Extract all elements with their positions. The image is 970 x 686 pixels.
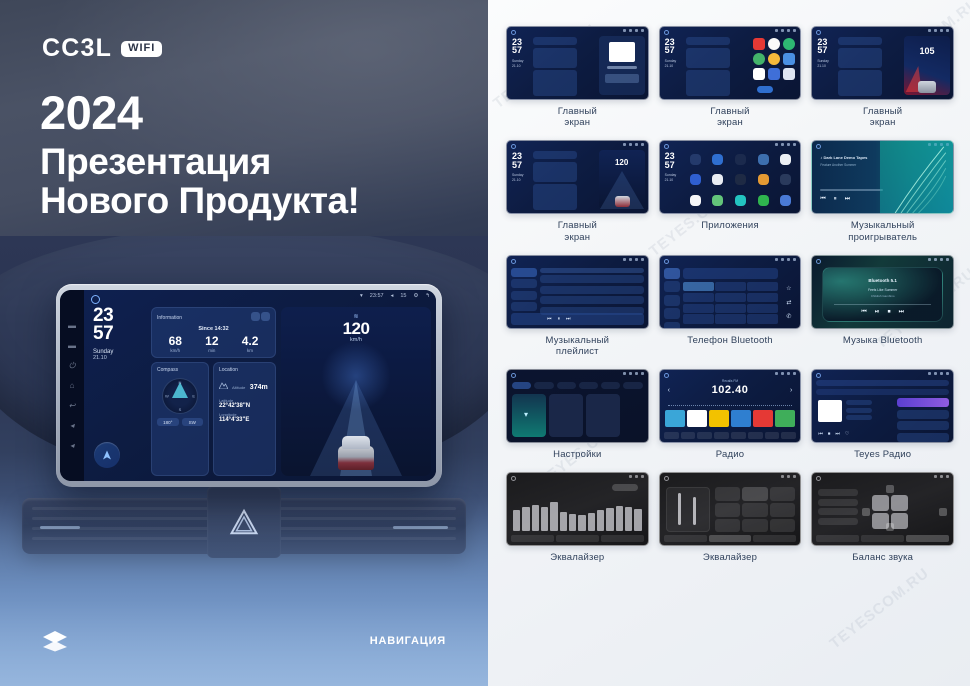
compass-south: S bbox=[179, 407, 182, 412]
call-icon[interactable]: ✆ bbox=[786, 313, 791, 320]
back-icon[interactable]: ↰ bbox=[425, 293, 430, 299]
page-title: 2024 Презентация Нового Продукта! bbox=[40, 88, 359, 220]
speed-unit: km/h bbox=[281, 337, 431, 343]
caption-line-1: Главный bbox=[558, 106, 597, 117]
caption-line-1: Эквалайзер bbox=[703, 552, 757, 563]
screen-home-icon[interactable] bbox=[91, 295, 100, 304]
next-icon[interactable]: ⏭ bbox=[899, 309, 904, 316]
gallery-item[interactable]: Эквалайзер bbox=[659, 472, 802, 573]
back-icon[interactable]: ↩ bbox=[68, 401, 77, 410]
road-visualization bbox=[281, 358, 431, 476]
logo-wifi-badge: WIFI bbox=[121, 41, 162, 57]
thumb-speed-value: 120 bbox=[599, 158, 645, 167]
stat-speed: 68 km/h bbox=[169, 335, 182, 353]
clock-date: 21.10 bbox=[90, 355, 146, 361]
gallery-item[interactable]: ♪ Dark Lane Demo Tapes Feature Another S… bbox=[811, 140, 954, 252]
wifi-icon: ▾ bbox=[360, 293, 363, 299]
wifi-icon: ▾ bbox=[524, 410, 528, 419]
gallery-item[interactable]: Эквалайзер bbox=[506, 472, 649, 573]
car-model-icon bbox=[338, 436, 374, 470]
longitude-value: 114°4'33"E bbox=[219, 417, 270, 423]
gallery-item[interactable]: 2357Sunday21.10 Главныйэкран bbox=[506, 26, 649, 138]
information-stats: 68 km/h 12 min 4.2 km bbox=[157, 335, 270, 353]
prev-station-icon[interactable]: ‹ bbox=[668, 387, 670, 394]
location-widget[interactable]: Location Altitude 374m bbox=[213, 362, 276, 476]
navigation-arrow-icon bbox=[101, 449, 113, 461]
thumbnail-equalizer-bands[interactable] bbox=[506, 472, 649, 546]
thumbnail-equalizer-simple[interactable] bbox=[659, 472, 802, 546]
altitude-label: Altitude bbox=[232, 385, 245, 390]
stat-speed-value: 68 bbox=[169, 335, 182, 347]
compass-east: E bbox=[192, 394, 195, 399]
caption-line-1: Музыкальный bbox=[545, 335, 609, 346]
gallery-row: 2357Sunday21.10 120 Главныйэкран bbox=[506, 140, 954, 252]
navigation-launch-button[interactable] bbox=[94, 442, 120, 468]
stat-time: 12 min bbox=[205, 335, 218, 353]
screenshot-gallery: TEYES.COM.RU TEYESCOM.RU TEYES.COM.RU TE… bbox=[488, 0, 970, 686]
prev-icon[interactable]: ⏮ bbox=[820, 196, 825, 203]
volume-level: 15 bbox=[400, 293, 406, 299]
gear-icon[interactable]: ⚙ bbox=[413, 293, 418, 299]
compass-direction: SW bbox=[182, 418, 204, 426]
pause-icon[interactable]: ⏸ bbox=[834, 196, 837, 203]
volume-up-icon[interactable]: ▬ bbox=[68, 321, 77, 330]
caption-line-1: Баланс звука bbox=[852, 552, 913, 563]
caption-line-2: экран bbox=[870, 117, 896, 128]
thumbnail-teyes-radio[interactable]: ⏮ ⏹ ⏭ ♡ bbox=[811, 369, 954, 443]
info-settings-icon[interactable] bbox=[251, 312, 260, 321]
caption-line-2: проигрыватель bbox=[848, 232, 917, 243]
gallery-row: ▾ Настройки Recalls FM 102.40 ‹ › bbox=[506, 369, 954, 470]
stop-icon[interactable]: ⏹ bbox=[828, 431, 831, 437]
presentation-slide: CC3L WIFI 2024 Презентация Нового Продук… bbox=[0, 0, 970, 686]
gallery-item[interactable]: ⏮ ⏸ ⏭ Музыкальныйплейлист bbox=[506, 255, 649, 367]
gallery-item[interactable]: ▾ Настройки bbox=[506, 369, 649, 470]
next-station-icon[interactable]: › bbox=[790, 387, 792, 394]
navigation-label: НАВИГАЦИЯ bbox=[370, 635, 446, 647]
thumbnail-home-speed[interactable]: 2357Sunday21.10 105 bbox=[811, 26, 954, 100]
device-side-buttons[interactable]: ▬ ▬ ⏻ ⌂ ↩ ◂ ◂ bbox=[60, 290, 84, 481]
title-line-1: Презентация bbox=[40, 142, 359, 181]
status-time: 23:57 bbox=[370, 293, 384, 299]
thumbnail-music-player[interactable]: ♪ Dark Lane Demo Tapes Feature Another S… bbox=[811, 140, 954, 214]
compass-widget[interactable]: Compass N S E W bbox=[151, 362, 209, 476]
thumbnail-playlist[interactable]: ⏮ ⏸ ⏭ bbox=[506, 255, 649, 329]
star-icon[interactable]: ☆ bbox=[786, 285, 791, 292]
head-unit-screen[interactable]: ▾ 23:57 ◂ 15 ⚙ ↰ 23 57 bbox=[84, 290, 436, 481]
mountain-icon bbox=[219, 382, 228, 389]
compass-dial: N S E W bbox=[162, 378, 198, 414]
gallery-item[interactable]: 2357Sunday21.10 bbox=[659, 26, 802, 138]
bluetooth-version-label: Bluetooth 5.1 bbox=[812, 278, 953, 283]
hero-panel: CC3L WIFI 2024 Презентация Нового Продук… bbox=[0, 0, 488, 686]
mic-icon[interactable]: ◂ bbox=[68, 441, 77, 450]
gallery-item[interactable]: Bluetooth 5.1 Feels Like Summer Childish… bbox=[811, 255, 954, 367]
play-pause-icon[interactable]: ⏯ bbox=[875, 309, 880, 316]
pause-icon[interactable]: ⏸ bbox=[558, 316, 561, 322]
title-line-2: Нового Продукта! bbox=[40, 181, 359, 220]
caption-line-1: Радио bbox=[716, 449, 744, 460]
altitude-value: 374m bbox=[250, 384, 268, 391]
caption-line-1: Настройки bbox=[553, 449, 601, 460]
stat-distance-unit: km bbox=[242, 348, 259, 353]
gallery-row: 2357Sunday21.10 Главныйэкран bbox=[506, 26, 954, 138]
compass-bearing: 180° bbox=[157, 418, 179, 426]
compass-west: W bbox=[165, 394, 169, 399]
caption-line-1: Главный bbox=[710, 106, 749, 117]
latitude-value: 22°42'38"N bbox=[219, 403, 270, 409]
information-since: Since 14:32 bbox=[157, 326, 270, 332]
location-title: Location bbox=[219, 367, 238, 373]
contacts-icon[interactable]: ⇄ bbox=[786, 299, 791, 306]
caption-line-2: плейлист bbox=[556, 346, 599, 357]
prev-icon[interactable]: ⏮ bbox=[818, 431, 823, 437]
gallery-item[interactable]: 2357Sunday21.10 120 Главныйэкран bbox=[506, 140, 649, 252]
gallery-row: Эквалайзер bbox=[506, 472, 954, 573]
caption-line-1: Teyes Радио bbox=[854, 449, 911, 460]
hero-footer: НАВИГАЦИЯ bbox=[0, 630, 488, 652]
information-widget[interactable]: Information Since 14:32 68 km/h bbox=[151, 307, 276, 358]
caption-line-2: экран bbox=[717, 117, 743, 128]
head-unit-device: ▬ ▬ ⏻ ⌂ ↩ ◂ ◂ ▾ 23:57 ◂ 15 ⚙ bbox=[56, 284, 442, 487]
caption-line-1: Музыкальный bbox=[851, 220, 915, 231]
thumbnail-home-nav[interactable]: 2357Sunday21.10 120 bbox=[506, 140, 649, 214]
equalizer-sliders[interactable] bbox=[513, 489, 642, 531]
layers-icon bbox=[42, 630, 68, 652]
caption-line-1: Приложения bbox=[701, 220, 759, 231]
lane-assist-widget[interactable]: ≋ 120 km/h bbox=[281, 307, 431, 476]
thumbnail-home-media[interactable]: 2357Sunday21.10 bbox=[506, 26, 649, 100]
prev-icon[interactable]: ⏮ bbox=[547, 316, 552, 322]
information-title: Information bbox=[157, 315, 182, 321]
thumbnail-radio[interactable]: Recalls FM 102.40 ‹ › bbox=[659, 369, 802, 443]
volume-down-icon[interactable]: ▬ bbox=[68, 341, 77, 350]
balance-left-button[interactable] bbox=[862, 508, 870, 516]
next-icon[interactable]: ⏭ bbox=[845, 196, 850, 203]
caption-line-1: Главный bbox=[863, 106, 902, 117]
balance-up-button[interactable] bbox=[886, 485, 894, 493]
mute-icon[interactable]: ◂ bbox=[68, 421, 77, 430]
product-logo: CC3L WIFI bbox=[42, 34, 162, 63]
prev-icon[interactable]: ⏮ bbox=[861, 309, 866, 316]
status-bar: ▾ 23:57 ◂ 15 ⚙ ↰ bbox=[360, 293, 430, 299]
gallery-grid: 2357Sunday21.10 Главныйэкран bbox=[506, 26, 954, 574]
caption-line-1: Телефон Bluetooth bbox=[687, 335, 773, 346]
stat-time-unit: min bbox=[205, 348, 218, 353]
stat-time-value: 12 bbox=[205, 335, 218, 347]
clock-minutes: 57 bbox=[93, 325, 146, 343]
balance-right-button[interactable] bbox=[939, 508, 947, 516]
dashboard-light-glow bbox=[0, 496, 488, 686]
caption-line-2: экран bbox=[564, 117, 590, 128]
caption-line-1: Музыка Bluetooth bbox=[843, 335, 923, 346]
info-expand-icon[interactable] bbox=[261, 312, 270, 321]
title-year: 2024 bbox=[40, 88, 359, 138]
gallery-item[interactable]: 2357Sunday21.10 Пр bbox=[659, 140, 802, 252]
thumbnail-bluetooth-phone[interactable]: ☆ ⇄ ✆ bbox=[659, 255, 802, 329]
caption-line-1: Эквалайзер bbox=[550, 552, 604, 563]
gallery-item[interactable]: ⏮ ⏹ ⏭ ♡ Teyes Радио bbox=[811, 369, 954, 470]
watermark: TEYESCOM.RU bbox=[827, 565, 933, 653]
balance-down-button[interactable] bbox=[886, 523, 894, 531]
caption-line-2: экран bbox=[564, 232, 590, 243]
stat-distance-value: 4.2 bbox=[242, 335, 259, 347]
compass-north: N bbox=[179, 380, 182, 385]
thumbnail-apps[interactable]: 2357Sunday21.10 bbox=[659, 140, 802, 214]
next-icon[interactable]: ⏭ bbox=[566, 316, 571, 322]
waveform-icon bbox=[880, 141, 953, 213]
compass-title: Compass bbox=[157, 367, 178, 373]
stat-speed-unit: km/h bbox=[169, 348, 182, 353]
stat-distance: 4.2 km bbox=[242, 335, 259, 353]
gallery-item[interactable]: Баланс звука bbox=[811, 472, 954, 573]
home-icon[interactable]: ⌂ bbox=[68, 381, 77, 390]
caption-line-1: Главный bbox=[558, 220, 597, 231]
power-icon[interactable]: ⏻ bbox=[68, 361, 77, 370]
gallery-item[interactable]: ☆ ⇄ ✆ Телефон Bluetooth bbox=[659, 255, 802, 367]
thumb-speed-value: 105 bbox=[904, 46, 950, 56]
clock-widget: 23 57 Sunday 21.10 bbox=[90, 307, 146, 476]
thumbnail-settings[interactable]: ▾ bbox=[506, 369, 649, 443]
next-icon[interactable]: ⏭ bbox=[835, 431, 840, 437]
gallery-item[interactable]: Recalls FM 102.40 ‹ › bbox=[659, 369, 802, 470]
thumbnail-sound-balance[interactable] bbox=[811, 472, 954, 546]
speed-value: 120 bbox=[281, 320, 431, 337]
radio-frequency: 102.40 bbox=[660, 384, 801, 396]
stop-icon[interactable]: ⏹ bbox=[888, 309, 891, 316]
thumbnail-home-apps[interactable]: 2357Sunday21.10 bbox=[659, 26, 802, 100]
gallery-row: ⏮ ⏸ ⏭ Музыкальныйплейлист bbox=[506, 255, 954, 367]
favorite-icon[interactable]: ♡ bbox=[845, 431, 849, 437]
thumbnail-bluetooth-music[interactable]: Bluetooth 5.1 Feels Like Summer Childish… bbox=[811, 255, 954, 329]
logo-model-text: CC3L bbox=[42, 34, 112, 63]
volume-icon: ◂ bbox=[391, 293, 394, 299]
gallery-item[interactable]: 2357Sunday21.10 105 Главныйэкран bbox=[811, 26, 954, 138]
